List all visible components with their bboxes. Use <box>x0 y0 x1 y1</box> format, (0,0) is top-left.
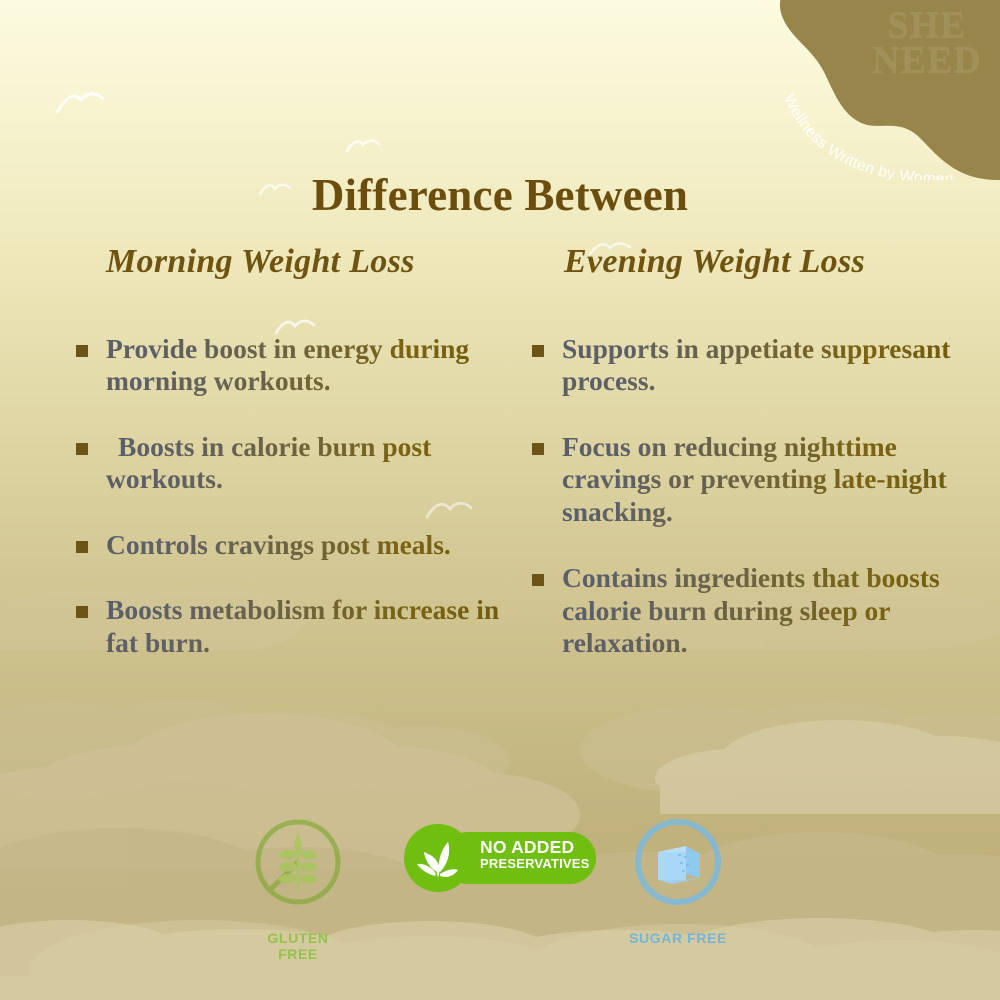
bird-silhouette-icon <box>345 133 385 159</box>
badge-sugar-free: SUGAR FREE <box>628 812 728 946</box>
list-item: Contains ingredients that boosts calorie… <box>518 562 958 659</box>
wheat-no-symbol-icon <box>248 812 348 912</box>
column-heading-evening: Evening Weight Loss <box>518 243 958 281</box>
brand-tagline-text: Wellness Written by Women <box>780 92 954 180</box>
svg-text:Wellness Written by Women: Wellness Written by Women <box>780 92 954 180</box>
list-item: Provide boost in energy during morning w… <box>62 333 502 398</box>
preservatives-label-line2: PRESERVATIVES <box>480 857 592 871</box>
bullet-list-morning: Provide boost in energy during morning w… <box>62 333 502 659</box>
poster-canvas: SHE NEED Wellness Written by Women Diffe… <box>0 0 1000 1000</box>
preservatives-label-line1: NO ADDED <box>480 838 592 857</box>
page-title: Difference Between <box>0 169 1000 221</box>
list-item: Boosts metabolism for increase in fat bu… <box>62 594 502 659</box>
bullet-list-evening: Supports in appetiate suppresant process… <box>518 333 958 660</box>
column-heading-morning: Morning Weight Loss <box>62 243 502 281</box>
badge-gluten-free: GLUTEN FREE <box>248 812 348 962</box>
badge-sugar-free-label: SUGAR FREE <box>628 930 728 946</box>
badge-gluten-free-label: GLUTEN FREE <box>248 930 348 962</box>
badge-no-added-preservatives: NO ADDED PRESERVATIVES <box>404 824 596 892</box>
bird-silhouette-icon <box>55 82 115 122</box>
preservatives-label: NO ADDED PRESERVATIVES <box>480 838 592 871</box>
list-item: Supports in appetiate suppresant process… <box>518 333 958 398</box>
brand-tagline-curved: Wellness Written by Women <box>760 0 1000 180</box>
list-item: Boosts in calorie burn post workouts. <box>62 431 502 496</box>
trust-badge-row: GLUTEN FREE NO ADDED PRESERVATIVES <box>0 812 1000 972</box>
list-item: Focus on reducing nighttime cravings or … <box>518 431 958 528</box>
column-morning: Morning Weight Loss Provide boost in ene… <box>62 243 502 692</box>
brand-logo-badge[interactable]: SHE NEED Wellness Written by Women <box>760 0 1000 180</box>
sugar-cube-icon <box>628 812 728 912</box>
leaf-icon <box>412 832 464 884</box>
column-evening: Evening Weight Loss Supports in appetiat… <box>518 243 958 693</box>
list-item: Controls cravings post meals. <box>62 529 502 561</box>
